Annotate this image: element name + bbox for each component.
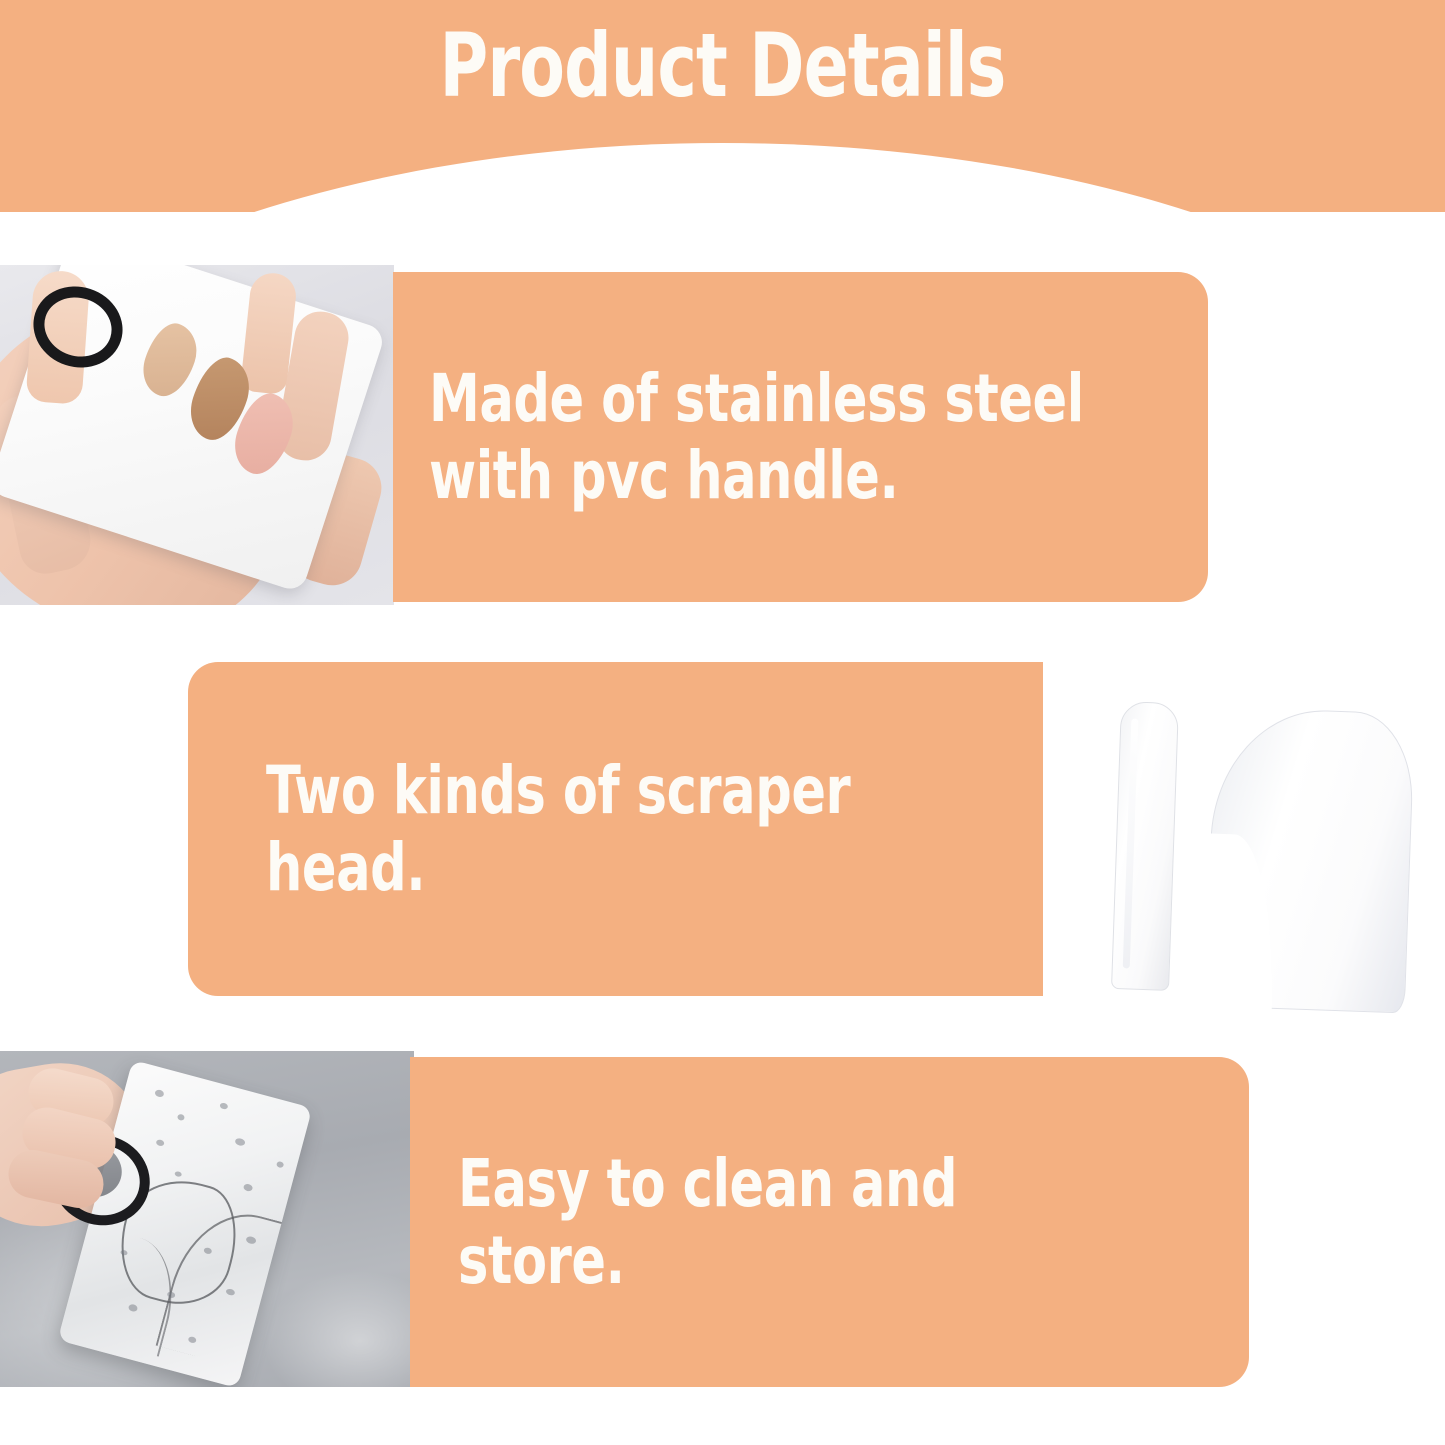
feature-text-scraper-heads: Two kinds of scraper head. xyxy=(266,752,850,906)
header-banner: Product Details xyxy=(0,0,1445,212)
feature-card-clean-store: Easy to clean and store. xyxy=(410,1057,1249,1387)
water-droplet xyxy=(243,1183,254,1192)
water-droplet xyxy=(154,1089,165,1098)
thin-scraper-head xyxy=(1111,701,1179,991)
feature-text-material: Made of stainless steel with pvc handle. xyxy=(429,360,1084,514)
page-title: Product Details xyxy=(116,22,1330,110)
curved-scraper-head xyxy=(1205,707,1415,1014)
water-droplet xyxy=(276,1161,284,1169)
feature-image-hand-rinsing-wet-steel-palette xyxy=(0,1051,414,1387)
water-droplet xyxy=(174,1171,182,1178)
feature-image-two-stainless-steel-scraper-heads xyxy=(1060,678,1445,1018)
feature-card-material: Made of stainless steel with pvc handle. xyxy=(393,272,1208,602)
product-details-page: Product Details Made of stainless steel … xyxy=(0,0,1445,1445)
water-droplet xyxy=(177,1114,185,1122)
water-sheen xyxy=(250,1261,414,1387)
water-droplet xyxy=(234,1137,245,1146)
feature-card-scraper-heads: Two kinds of scraper head. xyxy=(188,662,1043,996)
feature-text-clean-store: Easy to clean and store. xyxy=(458,1145,1138,1299)
water-droplet xyxy=(156,1139,165,1147)
header-curve-decoration xyxy=(0,143,1445,212)
feature-image-hand-holding-white-palette-with-foundation-swatches xyxy=(0,265,394,605)
water-droplet xyxy=(219,1102,228,1110)
